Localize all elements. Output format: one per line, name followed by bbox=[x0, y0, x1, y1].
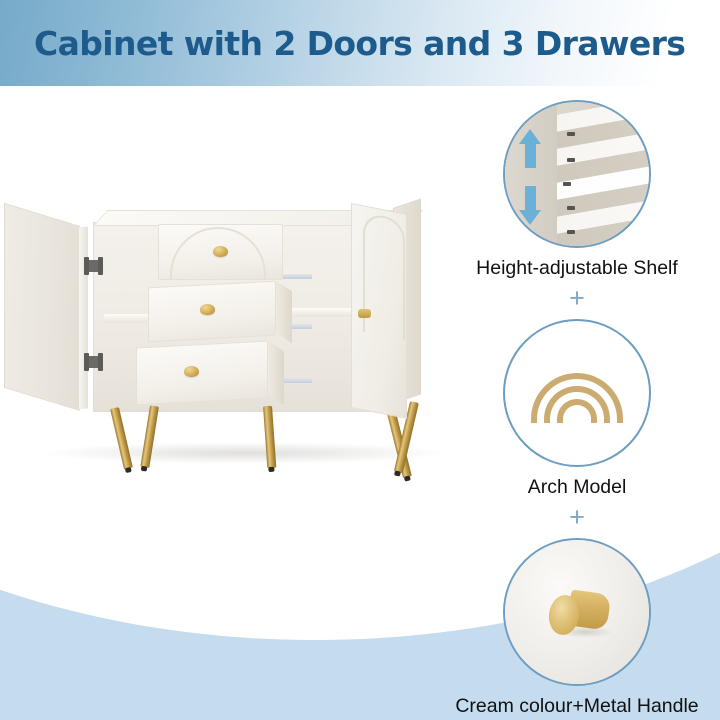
arrow-up-icon bbox=[525, 142, 536, 168]
shelf-scene bbox=[505, 102, 649, 246]
feature-arch-model: Arch Model bbox=[443, 319, 711, 499]
product-feature-poster: Cabinet with 2 Doors and 3 Drawers bbox=[0, 0, 720, 720]
door-hinge-icon bbox=[85, 260, 102, 272]
middle-drawer-side bbox=[276, 281, 292, 344]
door-hinge-icon bbox=[85, 356, 102, 368]
drawer-knob-icon bbox=[200, 304, 215, 315]
shelf-slats-icon bbox=[503, 100, 651, 248]
arch-model-icon bbox=[503, 319, 651, 467]
feature-cream-colour-metal-handle: Cream colour+Metal Handle bbox=[443, 538, 711, 718]
cabinet-illustration bbox=[0, 196, 460, 496]
feature-label: Arch Model bbox=[443, 476, 711, 499]
product-image bbox=[0, 196, 460, 496]
left-door bbox=[4, 203, 80, 411]
arrow-down-icon bbox=[519, 210, 541, 225]
feature-height-adjustable-shelf: Height-adjustable Shelf bbox=[443, 100, 711, 280]
drawer-knob-icon bbox=[213, 246, 228, 257]
bottom-drawer-side bbox=[268, 341, 284, 406]
floor-shadow bbox=[40, 442, 450, 464]
feature-label: Cream colour+Metal Handle bbox=[443, 695, 711, 718]
door-knob-icon bbox=[358, 309, 371, 318]
header-band: Cabinet with 2 Doors and 3 Drawers bbox=[0, 0, 720, 86]
drawer-knob-icon bbox=[184, 366, 199, 377]
shelf-peg-icon bbox=[567, 230, 575, 234]
arrow-down-icon bbox=[525, 186, 536, 212]
left-door-edge bbox=[79, 227, 88, 410]
metal-handle-icon bbox=[503, 538, 651, 686]
knob-scene bbox=[505, 540, 649, 684]
bottom-drawer bbox=[136, 341, 268, 406]
feature-list: Height-adjustable Shelf + Arch Model + bbox=[443, 100, 711, 718]
shelf-peg-icon bbox=[563, 182, 571, 186]
plus-separator: + bbox=[443, 285, 711, 312]
white-top-backdrop bbox=[0, 86, 470, 206]
feature-label: Height-adjustable Shelf bbox=[443, 257, 711, 280]
shelf-peg-icon bbox=[567, 158, 575, 162]
shelf-peg-icon bbox=[567, 206, 575, 210]
plus-separator: + bbox=[443, 504, 711, 531]
right-door-arch bbox=[363, 212, 405, 340]
arch-icon bbox=[505, 321, 649, 465]
shelf-peg-icon bbox=[567, 132, 575, 136]
page-title: Cabinet with 2 Doors and 3 Drawers bbox=[34, 24, 685, 63]
